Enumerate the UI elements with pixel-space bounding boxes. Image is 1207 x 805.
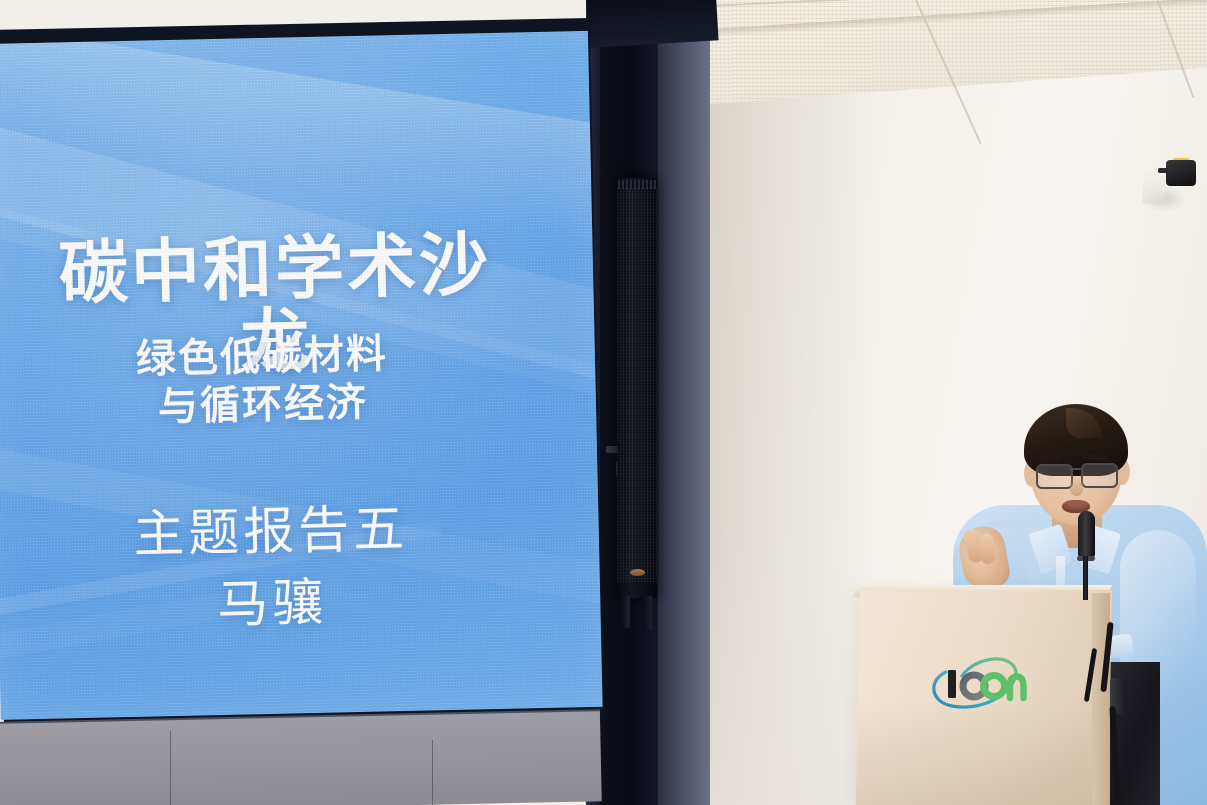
wall-sensor [1166, 160, 1196, 186]
riser-seam [170, 731, 171, 805]
line-array-speaker [617, 178, 657, 598]
microphone-capsule [1078, 511, 1095, 559]
eyeglasses-bridge [1069, 468, 1081, 470]
logo-letter-o [984, 676, 1005, 697]
eyeglasses-lens-right [1081, 463, 1118, 488]
speaker-grille [617, 188, 657, 582]
slide-subtitle-2: 与循环经济 [27, 367, 498, 435]
led-screen[interactable]: 碳中和学术沙龙 绿色低碳材料 与循环经济 主题报告五 马骧 [0, 31, 603, 720]
slide-content: 碳中和学术沙龙 绿色低碳材料 与循环经济 主题报告五 马骧 [0, 31, 603, 720]
nose [1070, 474, 1083, 496]
presentation-photo-scene: 碳中和学术沙龙 绿色低碳材料 与循环经济 主题报告五 马骧 [0, 0, 1207, 805]
speaker-mount-bracket [643, 596, 652, 630]
column-top-cap [586, 0, 719, 48]
speaker-mount-bracket [621, 596, 630, 628]
eyeglasses-lens-left [1036, 464, 1073, 489]
logo-letter-i [948, 670, 956, 698]
slide-speaker-name: 马骧 [31, 557, 513, 641]
sensor-mount-plate [1143, 170, 1165, 204]
logo-letter-n [1010, 677, 1024, 698]
riser-seam [432, 740, 433, 805]
podium-logo [922, 650, 1042, 716]
slide-session-label: 主题报告五 [30, 485, 512, 569]
speaker-brand-badge [630, 569, 645, 576]
finger [979, 534, 995, 565]
microphone-gooseneck [1083, 556, 1088, 600]
riser-wall [0, 711, 602, 805]
